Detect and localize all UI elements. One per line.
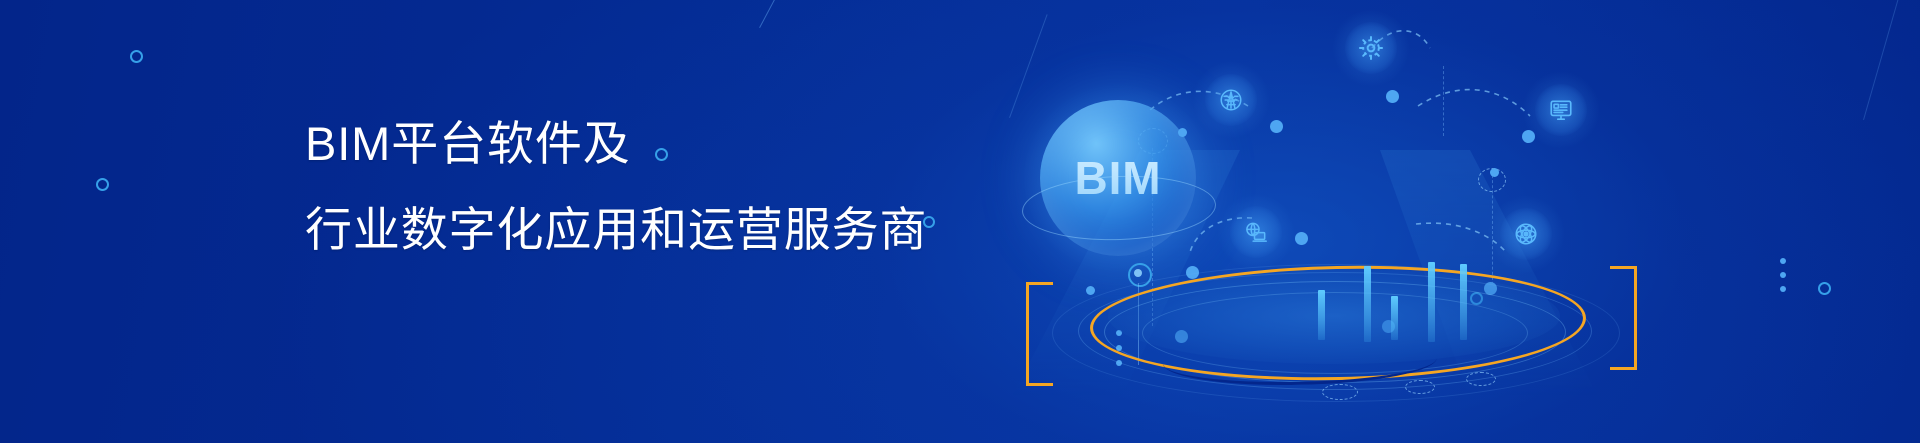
bim-illustration: BIM <box>0 0 1920 443</box>
gear-node[interactable] <box>1345 22 1397 74</box>
node-glow <box>1332 9 1410 87</box>
data-bar <box>1391 296 1398 340</box>
bracket-right <box>1610 266 1637 370</box>
ring-marker <box>1466 372 1496 386</box>
connector-dot <box>1295 232 1308 245</box>
node-glow <box>1192 61 1270 139</box>
bim-hero-banner: BIM平台软件及 行业数字化应用和运营服务商 <box>0 0 1920 443</box>
connector-dot <box>1522 130 1535 143</box>
decorative-dot <box>1780 258 1786 264</box>
data-bar <box>1318 290 1325 340</box>
ring-marker <box>1405 380 1435 394</box>
network-atom-node[interactable] <box>1500 208 1552 260</box>
connector-dot <box>1386 90 1399 103</box>
decorative-dot <box>1086 286 1095 295</box>
data-bar <box>1428 262 1435 342</box>
data-bar <box>1460 264 1467 340</box>
decorative-dot <box>1134 269 1142 277</box>
ring-marker <box>1322 384 1358 400</box>
decorative-dot <box>1780 272 1786 278</box>
globe-laptop-node[interactable] <box>1230 206 1282 258</box>
power-tower-node[interactable] <box>1205 74 1257 126</box>
bim-sphere-label: BIM <box>1040 100 1196 256</box>
connector-dot <box>1178 128 1187 137</box>
bracket-left <box>1026 282 1053 386</box>
node-glow <box>1487 195 1565 273</box>
connector-dot <box>1490 168 1499 177</box>
monitor-node[interactable] <box>1535 84 1587 136</box>
connector-dot <box>1270 120 1283 133</box>
data-bar <box>1364 266 1371 342</box>
node-glow <box>1217 193 1295 271</box>
decorative-dot <box>1780 286 1786 292</box>
